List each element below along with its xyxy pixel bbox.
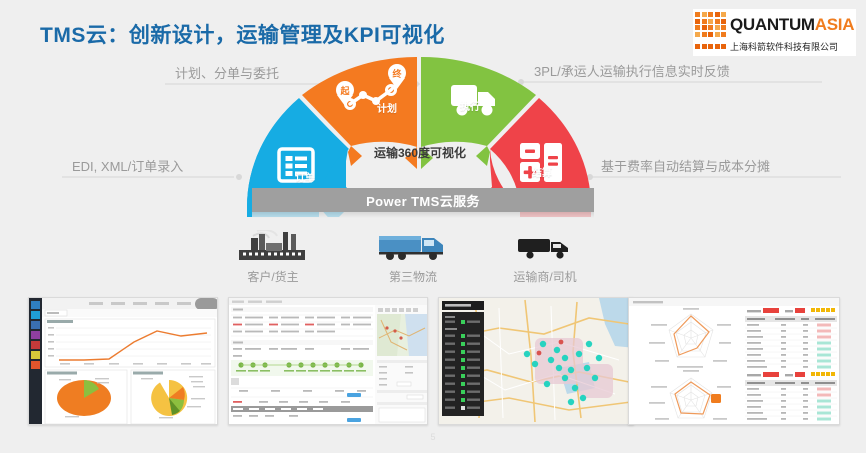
callout-bottom-left-label: EDI, XML/订单录入 — [72, 159, 183, 174]
logo-company-name: 上海科箭软件科技有限公司 — [730, 40, 838, 53]
logo-dot-grid-icon — [695, 12, 726, 37]
callout-leader-line — [591, 176, 841, 178]
callout-bottom-right: 基于费率自动结算与成本分摊 — [601, 156, 770, 175]
thumbnail-fleet-map[interactable] — [438, 297, 634, 425]
logo-wordmark: QUANTUMASIA — [730, 16, 854, 33]
thumbnail-kpi-radar-tables[interactable] — [628, 297, 840, 425]
arch-label-order: 订单 — [295, 169, 315, 184]
logo-sub-dot-strip-icon — [695, 44, 726, 49]
callout-bottom-left: EDI, XML/订单录入 — [72, 156, 183, 175]
callout-leader-line — [62, 176, 234, 178]
arch-label-exec: 执行 — [460, 98, 480, 113]
arch-label-plan: 计划 — [377, 100, 397, 115]
callout-leader-dot — [236, 174, 242, 180]
logo-word-asia: ASIA — [815, 15, 854, 34]
black-truck-icon — [490, 228, 600, 262]
callout-bottom-right-label: 基于费率自动结算与成本分摊 — [601, 159, 770, 174]
actor-carrier-label: 运输商/司机 — [490, 268, 600, 285]
slide-canvas: TMS云：创新设计，运输管理及KPI可视化 QUANTUMASIA 上海科箭软件… — [0, 0, 866, 453]
factory-icon — [218, 228, 328, 262]
company-logo: QUANTUMASIA 上海科箭软件科技有限公司 — [693, 9, 856, 56]
platform-bar: Power TMS云服务 — [252, 188, 594, 212]
logo-main-row: QUANTUMASIA — [695, 12, 856, 37]
actor-3pl: 第三物流 — [358, 228, 468, 285]
thumbnail-dashboard-charts[interactable] — [28, 297, 218, 425]
route-pin-end-label: 终 — [391, 68, 402, 79]
blue-truck-icon — [358, 228, 468, 262]
arch-center-text: 运输360度可视化 — [245, 144, 595, 161]
screenshot-thumbnail-row — [28, 297, 840, 425]
route-pin-start-label: 起 — [339, 85, 350, 96]
actor-3pl-label: 第三物流 — [358, 268, 468, 285]
arch-label-settle: 结算 — [532, 164, 552, 179]
page-number: 5 — [0, 432, 866, 442]
actor-customer-label: 客户/货主 — [218, 268, 328, 285]
actor-carrier-driver: 运输商/司机 — [490, 228, 600, 285]
thumbnail-order-form-map[interactable] — [228, 297, 428, 425]
logo-sub-row: 上海科箭软件科技有限公司 — [695, 40, 856, 53]
actor-customer: 客户/货主 — [218, 228, 328, 285]
page-title: TMS云：创新设计，运输管理及KPI可视化 — [40, 19, 445, 49]
logo-word-quantum: QUANTUM — [730, 15, 815, 34]
actor-row: 客户/货主 第三物流 — [218, 228, 628, 290]
